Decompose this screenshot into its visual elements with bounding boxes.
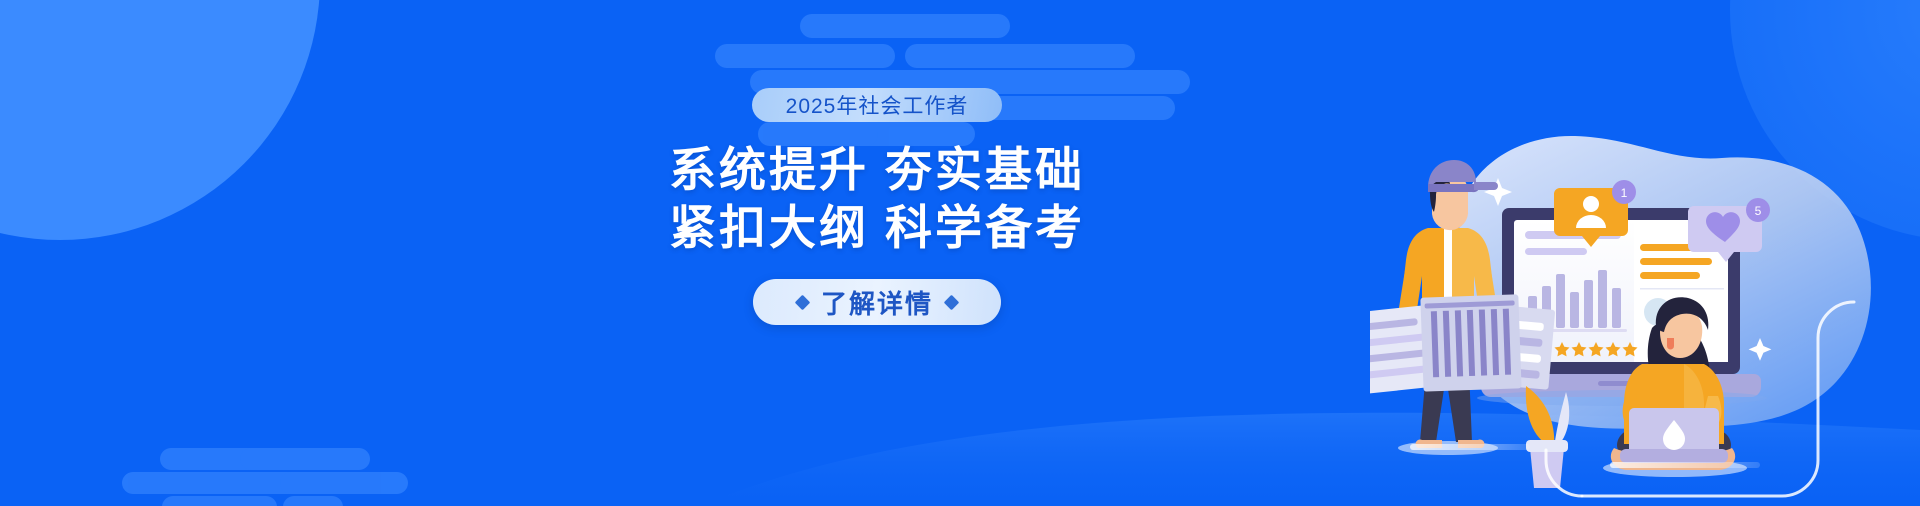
banner-text-block: 2025年社会工作者 系统提升 夯实基础 紧扣大纲 科学备考 了解详情 <box>712 88 1042 418</box>
promo-banner: 2025年社会工作者 系统提升 夯实基础 紧扣大纲 科学备考 了解详情 <box>0 0 1920 506</box>
online-learning-illustration: 1 5 <box>1370 96 1920 506</box>
user-count-badge: 1 <box>1612 180 1636 204</box>
exam-year-badge: 2025年社会工作者 <box>752 88 1002 122</box>
like-count-badge: 5 <box>1746 198 1770 222</box>
user-count-label: 1 <box>1621 186 1628 200</box>
held-documents <box>1370 294 1555 394</box>
learn-more-button[interactable]: 了解详情 <box>753 279 1001 325</box>
headline-line-2: 紧扣大纲 科学备考 <box>669 199 1085 257</box>
womans-laptop <box>1620 408 1728 463</box>
like-count-label: 5 <box>1755 204 1762 218</box>
diamond-left-icon <box>795 294 811 310</box>
headline-line-1: 系统提升 夯实基础 <box>669 141 1085 199</box>
headline-group: 系统提升 夯实基础 紧扣大纲 科学备考 <box>669 141 1085 257</box>
learn-more-button-label: 了解详情 <box>821 284 933 321</box>
diamond-right-icon <box>944 294 960 310</box>
